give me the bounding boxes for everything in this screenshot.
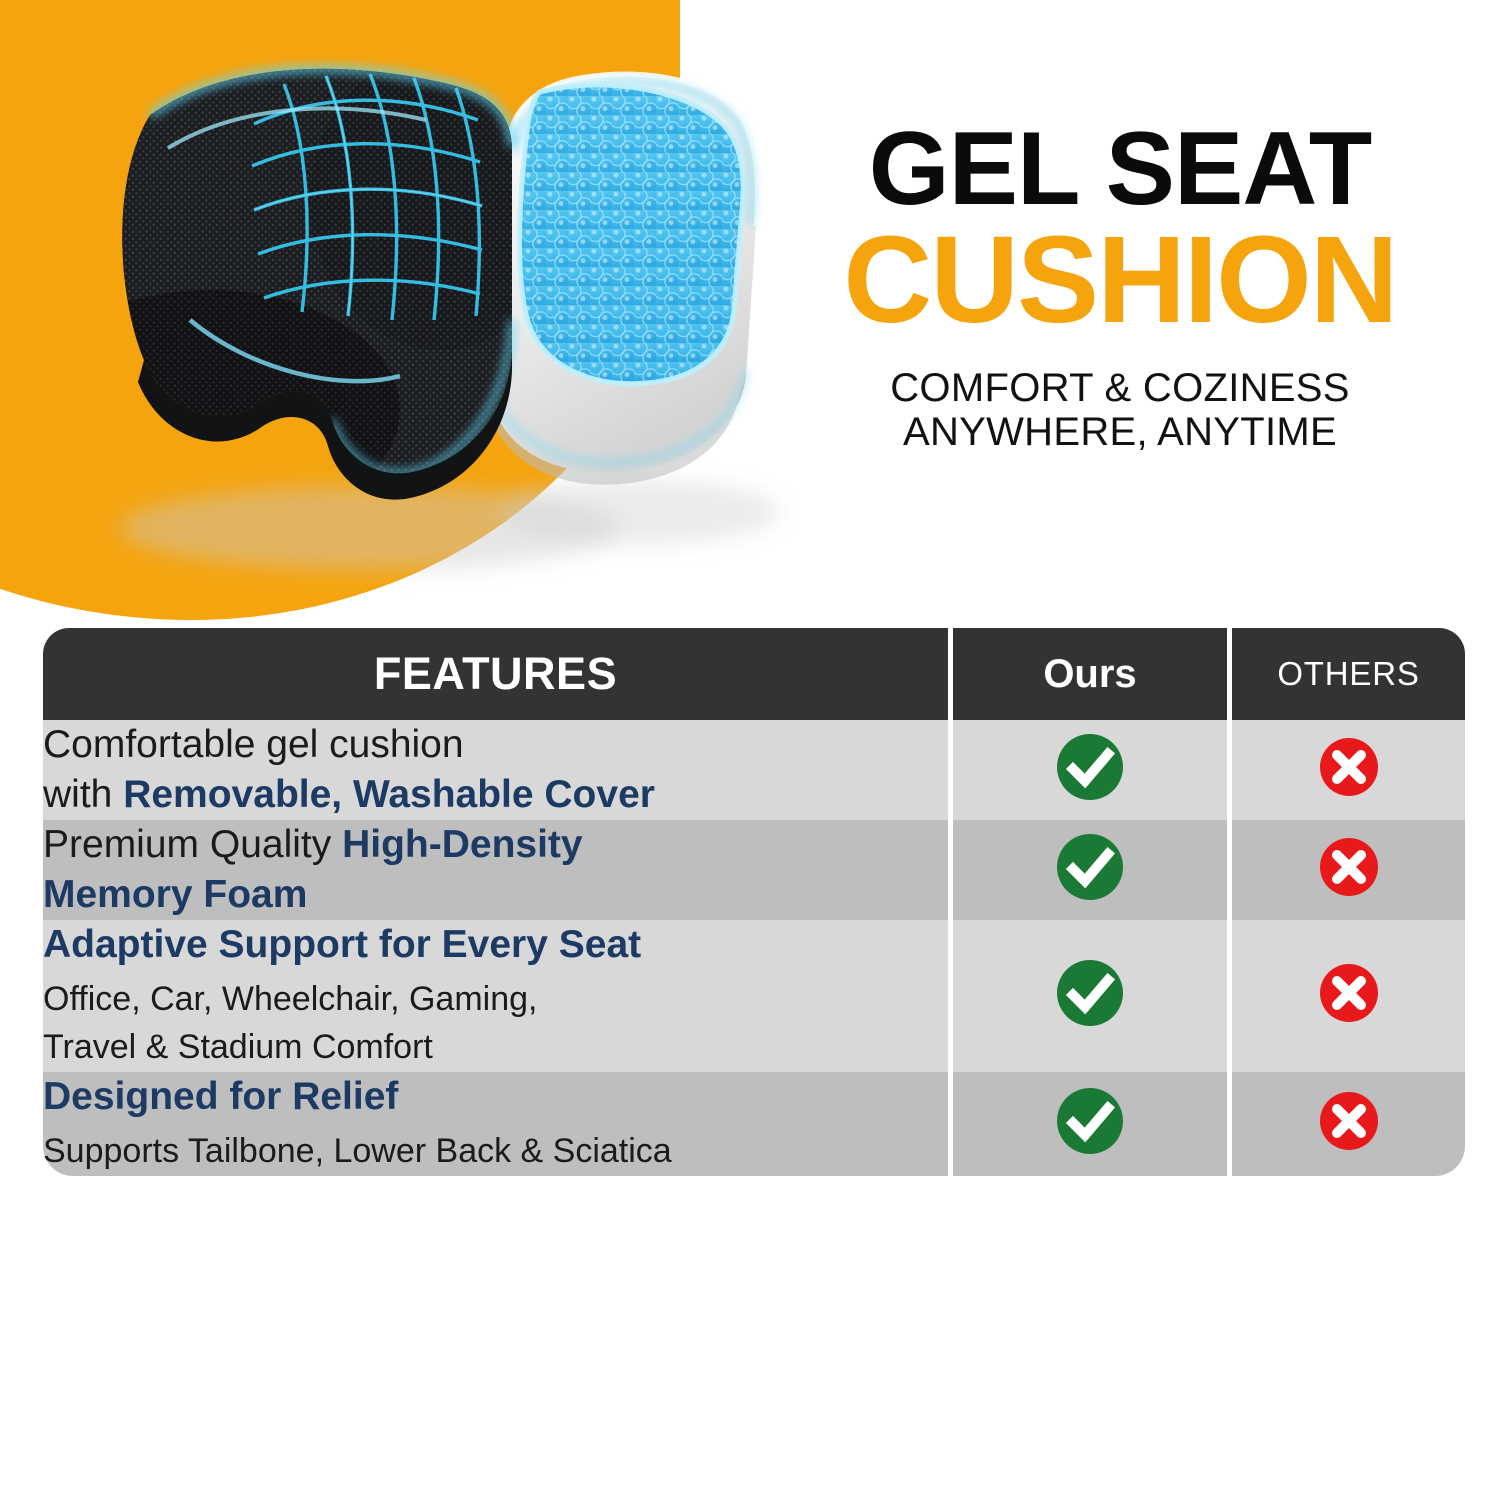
feature-subtext: Office, Car, Wheelchair, Gaming, Travel …	[43, 976, 948, 1071]
table-row: Premium Quality High-Density Memory Foam	[43, 820, 1465, 920]
black-mesh-memory-foam-cushion	[40, 50, 570, 530]
feature-line-1-prefix: Premium Quality	[43, 823, 342, 866]
ours-mark-cell	[948, 920, 1227, 1072]
tagline-line-1: COMFORT & COZINESS	[770, 366, 1470, 411]
comparison-table: FEATURES Ours OTHERS Comfortable gel cus…	[43, 628, 1455, 1500]
feature-cell: Adaptive Support for Every Seat Office, …	[43, 920, 948, 1072]
column-header-others-label: OTHERS	[1277, 655, 1419, 692]
check-icon	[1054, 731, 1126, 803]
table-row: Adaptive Support for Every Seat Office, …	[43, 920, 1465, 1072]
others-mark-cell	[1227, 920, 1465, 1072]
headline-line-1: GEL SEAT	[770, 120, 1470, 219]
table-row: Comfortable gel cushion with Removable, …	[43, 720, 1465, 820]
table-header-row: FEATURES Ours OTHERS	[43, 628, 1465, 720]
feature-cell: Designed for Relief Supports Tailbone, L…	[43, 1072, 948, 1176]
product-hero-image	[40, 20, 800, 620]
feature-subtext-line-2: Travel & Stadium Comfort	[43, 1028, 433, 1066]
tagline-block: COMFORT & COZINESS ANYWHERE, ANYTIME	[770, 366, 1470, 456]
column-header-others: OTHERS	[1227, 628, 1465, 720]
column-header-ours-label: Ours	[1043, 652, 1136, 696]
feature-text: Comfortable gel cushion with Removable, …	[43, 720, 948, 820]
ours-mark-cell	[948, 1072, 1227, 1176]
check-icon	[1054, 957, 1126, 1029]
others-mark-cell	[1227, 1072, 1465, 1176]
others-mark-cell	[1227, 720, 1465, 820]
column-header-features-label: FEATURES	[374, 648, 617, 699]
cross-icon	[1313, 1085, 1385, 1157]
feature-line-1-bold: High-Density	[342, 823, 583, 866]
column-header-ours: Ours	[948, 628, 1227, 720]
feature-line-1: Comfortable gel cushion	[43, 723, 464, 766]
infographic-canvas: GEL SEAT CUSHION COMFORT & COZINESS ANYW…	[0, 0, 1493, 1500]
white-foam-base	[490, 60, 770, 485]
feature-subtext-line-1: Supports Tailbone, Lower Back & Sciatica	[43, 1132, 672, 1170]
table-row: Designed for Relief Supports Tailbone, L…	[43, 1072, 1465, 1176]
ours-mark-cell	[948, 720, 1227, 820]
cross-icon	[1313, 731, 1385, 803]
headline-line-2: CUSHION	[770, 223, 1470, 340]
others-mark-cell	[1227, 820, 1465, 920]
feature-line-2-bold: Memory Foam	[43, 873, 307, 916]
cross-icon	[1313, 831, 1385, 903]
feature-heading: Adaptive Support for Every Seat	[43, 920, 948, 971]
check-icon	[1054, 1085, 1126, 1157]
check-icon	[1054, 831, 1126, 903]
feature-heading: Designed for Relief	[43, 1072, 948, 1123]
tagline-line-2: ANYWHERE, ANYTIME	[770, 410, 1470, 455]
feature-line-2-prefix: with	[43, 773, 123, 816]
ours-mark-cell	[948, 820, 1227, 920]
feature-cell: Premium Quality High-Density Memory Foam	[43, 820, 948, 920]
headline-block: GEL SEAT CUSHION COMFORT & COZINESS ANYW…	[770, 120, 1470, 455]
feature-cell: Comfortable gel cushion with Removable, …	[43, 720, 948, 820]
feature-subtext: Supports Tailbone, Lower Back & Sciatica	[43, 1128, 948, 1176]
column-header-features: FEATURES	[43, 628, 948, 720]
cross-icon	[1313, 957, 1385, 1029]
feature-line-2-bold: Removable, Washable Cover	[123, 773, 655, 816]
feature-text: Premium Quality High-Density Memory Foam	[43, 820, 948, 920]
feature-subtext-line-1: Office, Car, Wheelchair, Gaming,	[43, 980, 537, 1018]
